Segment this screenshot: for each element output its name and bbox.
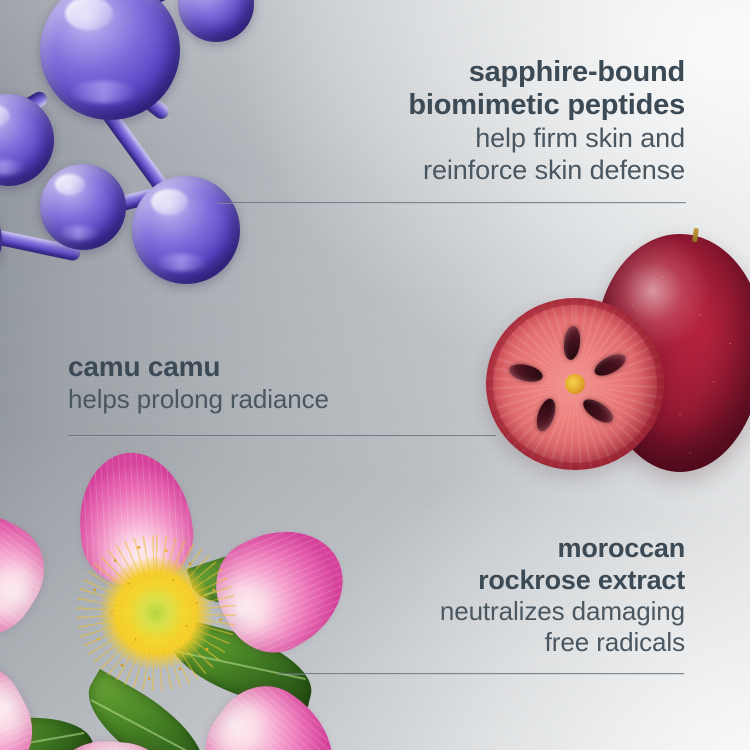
halved-berry xyxy=(486,298,664,470)
ingredient-benefit-line-1: helps prolong radiance xyxy=(68,383,488,415)
ingredient-benefits-poster: sapphire-bound biomimetic peptides help … xyxy=(0,0,750,750)
ingredient-benefit-line-2: free radicals xyxy=(245,627,685,658)
flower-stamen-anthers xyxy=(71,531,241,695)
molecule-atom xyxy=(40,164,126,250)
ingredient-benefit-line-1: help firm skin and xyxy=(255,122,685,154)
divider-rule-camu-camu xyxy=(68,435,496,437)
divider-rule-sapphire-peptides xyxy=(218,202,686,204)
ingredient-block-camu-camu: camu camu helps prolong radiance xyxy=(68,350,488,415)
molecule-atom xyxy=(132,176,240,284)
ingredient-name-line-1: moroccan xyxy=(245,532,685,564)
ingredient-block-moroccan-rockrose: moroccan rockrose extract neutralizes da… xyxy=(245,532,685,658)
ingredient-name-line-1: sapphire-bound xyxy=(255,56,685,89)
ingredient-name-line-2: biomimetic peptides xyxy=(255,89,685,122)
molecule-atom xyxy=(0,94,54,186)
ingredient-name-line-1: camu camu xyxy=(68,350,488,383)
berry-skin-rim xyxy=(486,298,664,470)
ingredient-name-line-2: rockrose extract xyxy=(245,564,685,596)
molecule-atom xyxy=(178,0,254,42)
ingredient-benefit-line-1: neutralizes damaging xyxy=(245,596,685,627)
molecule-cluster-illustration xyxy=(0,0,274,260)
camu-camu-berry-illustration xyxy=(474,228,750,496)
flower-petal xyxy=(0,487,63,653)
ingredient-benefit-line-2: reinforce skin defense xyxy=(255,154,685,186)
ingredient-block-sapphire-peptides: sapphire-bound biomimetic peptides help … xyxy=(255,56,685,186)
divider-rule-moroccan-rockrose xyxy=(278,673,684,675)
